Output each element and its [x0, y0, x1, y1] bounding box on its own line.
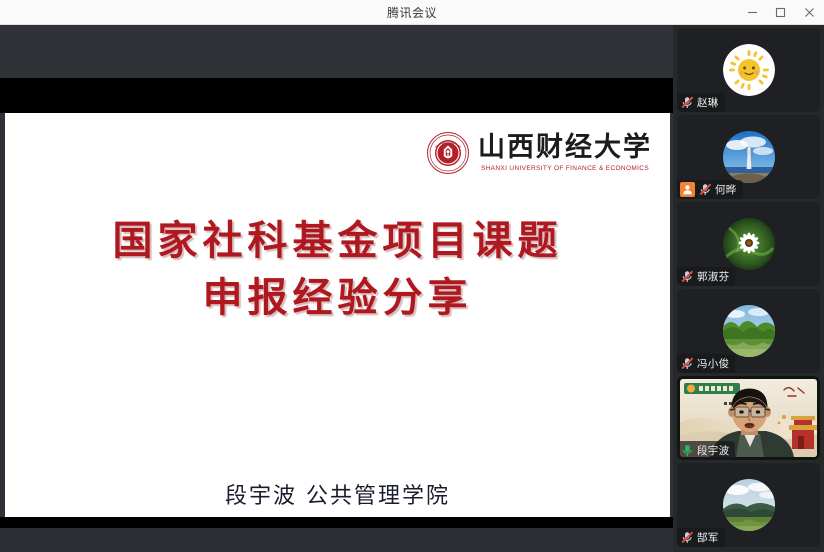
participant-name: 段宇波 — [697, 443, 729, 458]
mic-muted-icon — [680, 96, 694, 110]
avatar — [723, 479, 775, 531]
letterbox-top — [0, 25, 673, 78]
participant-rail[interactable]: 赵琳 — [673, 25, 824, 552]
participant-nameplate: 赵琳 — [677, 93, 725, 112]
slide-presenter: 段宇波 公共管理学院 — [5, 481, 670, 513]
participant-nameplate: 段宇波 — [677, 441, 735, 460]
sun-emoji-avatar-icon — [723, 44, 775, 96]
slide-title-line-1: 国家社科基金项目课题 — [5, 213, 670, 270]
university-logo: 山西财经大学 SHANXI UNIVERSITY OF FINANCE & EC… — [426, 131, 652, 175]
shared-screen-area[interactable]: 山西财经大学 SHANXI UNIVERSITY OF FINANCE & EC… — [0, 25, 673, 528]
slide-title-line-2: 申报经验分享 — [5, 270, 670, 327]
host-badge-icon — [680, 182, 695, 197]
participant-tile[interactable]: 冯小俊 — [677, 289, 820, 373]
avatar — [723, 218, 775, 270]
participant-name: 何晔 — [715, 182, 737, 197]
maximize-button[interactable] — [766, 0, 794, 25]
participant-name: 郭淑芬 — [697, 269, 729, 284]
lighthouse-sky-avatar-icon — [723, 131, 775, 183]
mountain-meadow-avatar-icon — [723, 479, 775, 531]
participant-tile[interactable]: 郭淑芬 — [677, 202, 820, 286]
black-band-bottom — [0, 517, 673, 528]
participant-name: 冯小俊 — [697, 356, 729, 371]
participant-tile[interactable]: 何晔 — [677, 115, 820, 199]
participant-nameplate: 何晔 — [677, 180, 743, 199]
window-title-bar: 腾讯会议 — [0, 0, 824, 25]
minimize-icon — [747, 7, 758, 18]
mic-muted-icon — [698, 183, 712, 197]
slide-date: 2022年10月 — [5, 513, 670, 517]
maximize-icon — [775, 7, 786, 18]
university-name-en: SHANXI UNIVERSITY OF FINANCE & ECONOMICS — [481, 165, 649, 172]
participant-tile[interactable]: 赵琳 — [677, 28, 820, 112]
window-controls — [738, 0, 824, 25]
participant-tile-active-speaker[interactable]: 段宇波 — [677, 376, 820, 460]
avatar — [723, 305, 775, 357]
minimize-button[interactable] — [738, 0, 766, 25]
close-button[interactable] — [794, 0, 824, 25]
avatar — [723, 44, 775, 96]
participant-nameplate: 郜军 — [677, 528, 725, 547]
university-name-block: 山西财经大学 SHANXI UNIVERSITY OF FINANCE & EC… — [478, 134, 652, 172]
mic-muted-icon — [680, 357, 694, 371]
white-daisy-avatar-icon — [723, 218, 775, 270]
black-band-top — [0, 78, 673, 113]
slide-title: 国家社科基金项目课题 申报经验分享 — [5, 213, 670, 327]
participant-name: 赵琳 — [697, 95, 719, 110]
university-emblem-icon — [426, 131, 470, 175]
mic-muted-icon — [680, 531, 694, 545]
university-name-cn: 山西财经大学 — [478, 134, 652, 162]
participant-name: 郜军 — [697, 530, 719, 545]
participant-nameplate: 郭淑芬 — [677, 267, 735, 286]
green-trees-lake-avatar-icon — [723, 305, 775, 357]
avatar — [723, 131, 775, 183]
participant-tile[interactable]: 郜军 — [677, 463, 820, 547]
window-title: 腾讯会议 — [387, 4, 437, 21]
slide-subtitle: 段宇波 公共管理学院 2022年10月 — [5, 481, 670, 517]
close-icon — [804, 7, 815, 18]
presentation-slide: 山西财经大学 SHANXI UNIVERSITY OF FINANCE & EC… — [5, 113, 670, 517]
tencent-meeting-window: 腾讯会议 — [0, 0, 824, 552]
participant-nameplate: 冯小俊 — [677, 354, 735, 373]
mic-on-icon — [680, 444, 694, 458]
mic-muted-icon — [680, 270, 694, 284]
